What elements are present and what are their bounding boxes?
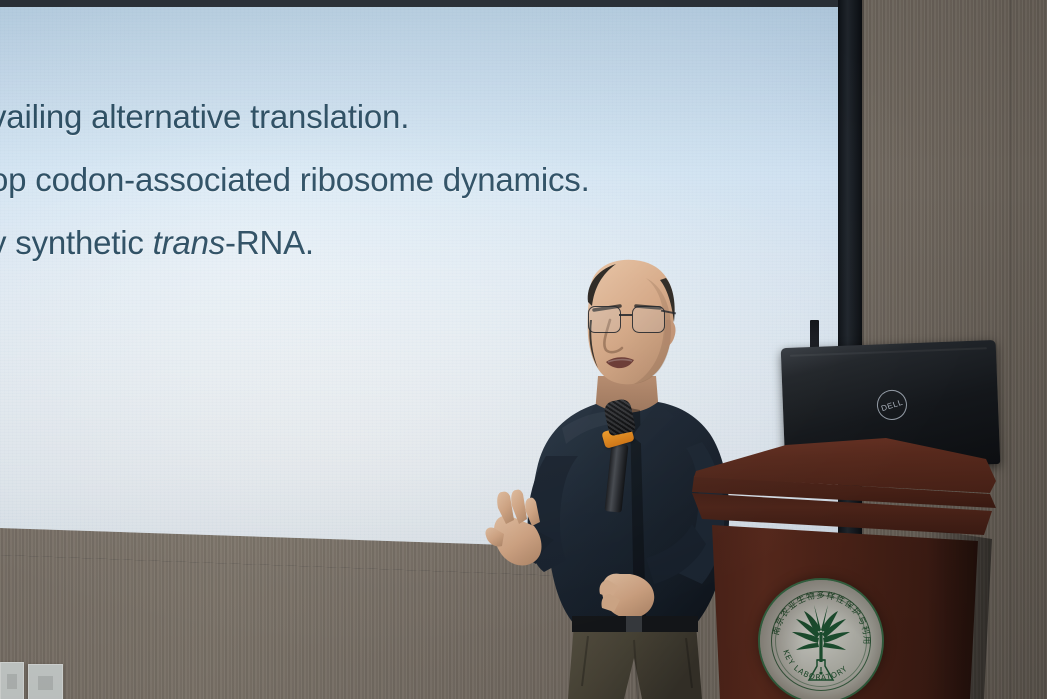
eyeglasses bbox=[588, 306, 666, 334]
presentation-photo: vailing alternative translation. op codo… bbox=[0, 0, 1047, 699]
light-switch-plate[interactable] bbox=[0, 662, 24, 699]
antenna-rod bbox=[810, 320, 819, 348]
slide-line-3: y synthetic trans-RNA. bbox=[0, 226, 700, 259]
screen-frame-top bbox=[0, 0, 862, 7]
slide-line-2-text: op codon-associated ribosome dynamics. bbox=[0, 161, 590, 198]
podium-shadow bbox=[926, 529, 1000, 699]
dell-logo-icon: DELL bbox=[873, 386, 911, 424]
svg-text:KEY LABORATORY: KEY LABORATORY bbox=[781, 648, 849, 682]
slide-line-3-post: -RNA. bbox=[225, 224, 314, 261]
slide-line-3-italic: trans bbox=[153, 224, 225, 261]
slide-line-3-pre: y synthetic bbox=[0, 224, 153, 261]
emblem-artwork: 南京农业生物多样性保护与利用重点实验室 KEY LABORATORY bbox=[760, 580, 882, 699]
slide-line-2: op codon-associated ribosome dynamics. bbox=[0, 163, 700, 196]
lab-emblem: 南京农业生物多样性保护与利用重点实验室 KEY LABORATORY bbox=[758, 578, 884, 699]
slide-line-1: vailing alternative translation. bbox=[0, 100, 700, 133]
outlet-plate[interactable] bbox=[28, 664, 63, 699]
eyeglass-lens-left bbox=[588, 306, 621, 333]
eyeglass-bridge bbox=[619, 314, 632, 316]
slide-line-1-text: vailing alternative translation. bbox=[0, 98, 409, 135]
monitor-vent-line bbox=[790, 347, 987, 357]
